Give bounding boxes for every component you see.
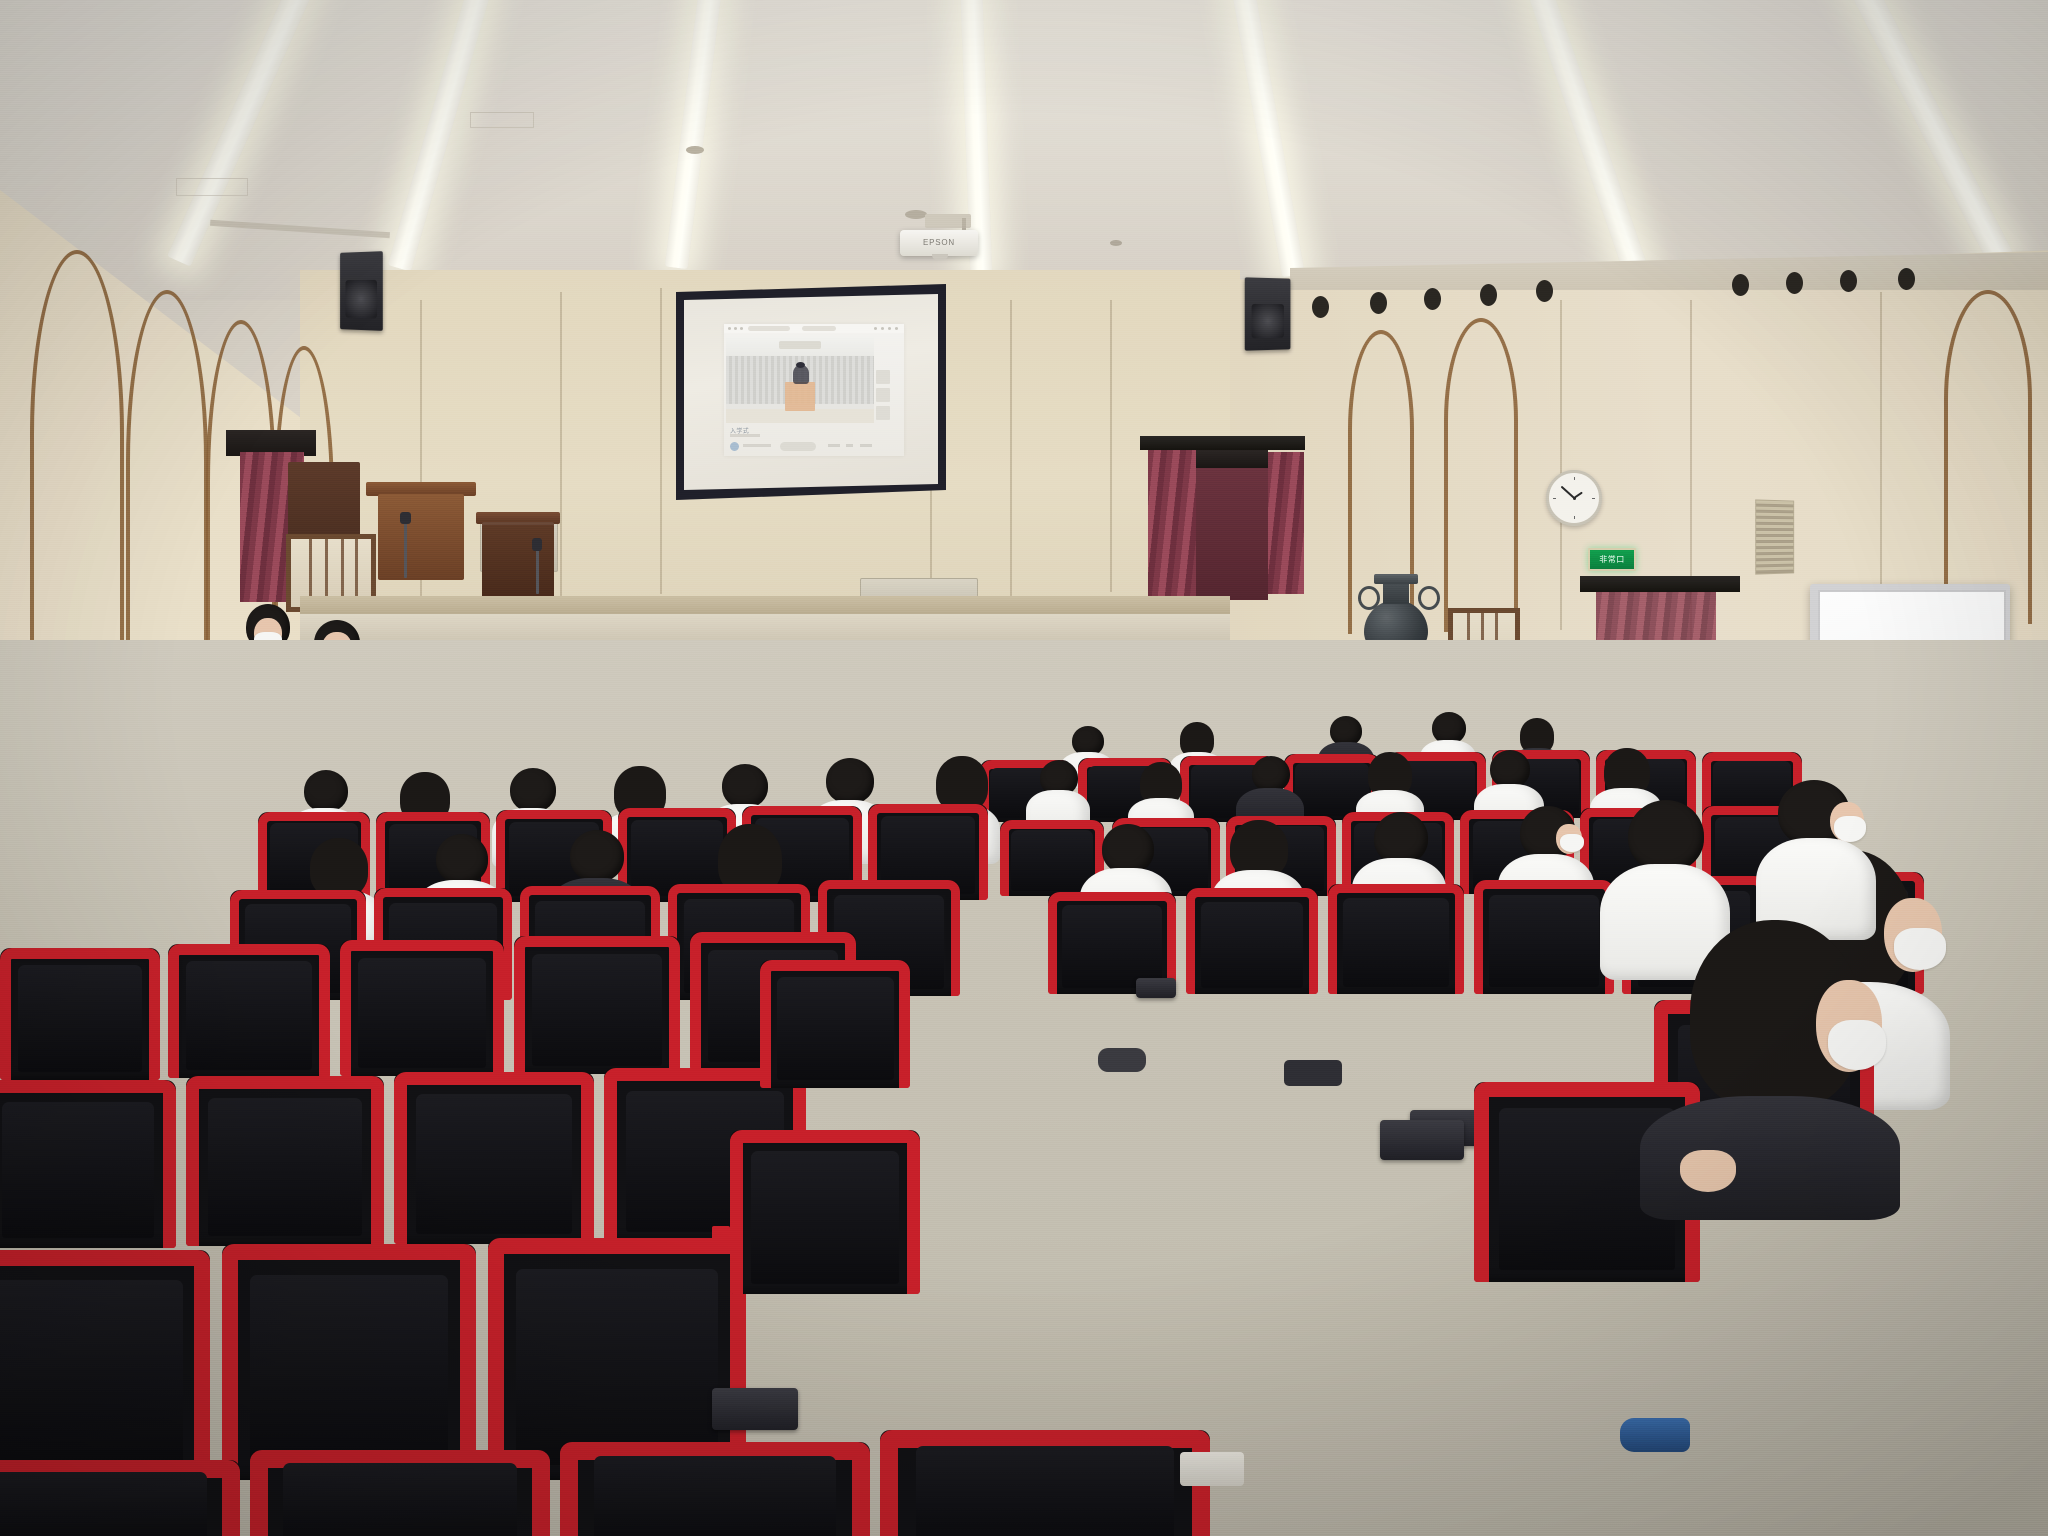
seat-empty[interactable]: [394, 1072, 594, 1244]
recessed-light-dot: [1536, 280, 1553, 302]
video-view-count: [730, 434, 760, 437]
smoke-detector-icon: [686, 146, 704, 154]
side-curtain-right-2: [1268, 452, 1304, 594]
emergency-exit-sign: 非常口: [1588, 548, 1636, 571]
seat-empty-foreground[interactable]: [250, 1450, 550, 1536]
video-sidebar-thumb: [876, 370, 890, 384]
video-podium: [785, 382, 815, 411]
seat[interactable]: [1186, 888, 1318, 994]
recessed-light-dot: [1786, 272, 1803, 294]
exit-sign-text: 非常口: [1599, 554, 1625, 565]
recessed-light-dot: [1370, 292, 1387, 314]
video-player[interactable]: [726, 337, 874, 423]
armrest: [1136, 978, 1176, 998]
seat-empty[interactable]: [760, 960, 910, 1088]
seat-empty[interactable]: [168, 944, 330, 1078]
ceiling-vent-icon-2: [176, 178, 248, 196]
armrest-foreground: [712, 1388, 798, 1430]
seat[interactable]: [1328, 884, 1464, 994]
recessed-light-dot: [1898, 268, 1915, 290]
recessed-light-dot: [1840, 270, 1857, 292]
projection-screen-surface: 入学式: [684, 294, 938, 490]
seat-empty-foreground[interactable]: [880, 1430, 1210, 1536]
lectern-body: [378, 494, 464, 580]
wall-arch-7: [1944, 290, 2032, 624]
like-button[interactable]: [828, 444, 840, 447]
armrest: [1380, 1120, 1464, 1160]
recessed-light-dot: [1424, 288, 1441, 310]
microphone-stand-2: [536, 548, 539, 594]
ceiling: [0, 0, 2048, 300]
wall-seam: [1010, 300, 1012, 596]
far-right-rail: [1580, 576, 1740, 592]
floor-object-bag: [1284, 1060, 1342, 1086]
sprinkler-head-icon: [1110, 240, 1122, 246]
wall-seam: [660, 288, 662, 594]
seat-empty[interactable]: [730, 1130, 920, 1294]
seat-empty[interactable]: [514, 936, 680, 1074]
floor-object-shoe: [1620, 1418, 1690, 1452]
channel-avatar[interactable]: [730, 442, 739, 451]
floor-object-remote[interactable]: [1180, 1452, 1244, 1486]
auditorium-photo: EPSON 非常口: [0, 0, 2048, 1536]
recessed-light-dot: [1732, 274, 1749, 296]
projector-brand-label: EPSON: [900, 238, 978, 247]
microphone-stand-1: [404, 520, 407, 578]
wall-seam: [560, 292, 562, 602]
wall-seam: [1560, 300, 1562, 630]
microphone-head-2: [532, 538, 542, 551]
seat-empty[interactable]: [0, 1250, 210, 1480]
door-header-rail: [1140, 436, 1305, 450]
ceiling-vent-icon: [470, 112, 534, 128]
vase-handle-right: [1418, 586, 1440, 610]
hand: [1680, 1150, 1736, 1192]
door-recess: [1196, 450, 1268, 468]
microphone-head-1: [400, 512, 411, 524]
vase-handle-left: [1358, 586, 1380, 610]
wall-speaker-right: [1245, 277, 1291, 350]
audience-person-foreground-near: [1640, 920, 1900, 1220]
wall-arch-6: [1444, 318, 1518, 632]
wall-vent-grille: [1755, 499, 1794, 574]
seat-empty-foreground[interactable]: [0, 1460, 240, 1536]
side-curtain-right: [1148, 450, 1196, 596]
video-sidebar-thumb: [876, 388, 890, 402]
seat-empty[interactable]: [0, 948, 160, 1080]
floor-object-shoe-2: [1098, 1048, 1146, 1072]
video-aircon-icon: [779, 341, 820, 349]
dislike-button[interactable]: [846, 444, 853, 447]
recessed-light-dot: [1480, 284, 1497, 306]
vase-neck: [1383, 582, 1409, 604]
wall-seam: [1880, 292, 1882, 632]
seat-empty[interactable]: [186, 1076, 384, 1246]
browser-title-chip: [802, 326, 836, 331]
wall-clock: [1546, 470, 1602, 526]
wall-seam: [1110, 300, 1112, 592]
projected-browser-window: 入学式: [724, 324, 904, 456]
wall-speaker-left: [340, 251, 383, 331]
video-sidebar-thumb: [876, 406, 890, 420]
video-speaker: [793, 365, 809, 384]
seat-empty[interactable]: [340, 940, 504, 1076]
channel-name: [743, 444, 771, 447]
ceiling-speaker-icon: [905, 210, 927, 219]
audience-person-masked-right: [1756, 780, 1876, 940]
seat-empty[interactable]: [222, 1244, 476, 1480]
vase-lip: [1374, 574, 1418, 584]
recessed-light-dot: [1312, 296, 1329, 318]
seat-empty-foreground[interactable]: [560, 1442, 870, 1536]
browser-address-bar[interactable]: [748, 326, 790, 331]
seat-empty[interactable]: [0, 1080, 176, 1248]
exit-door[interactable]: [1196, 450, 1268, 600]
subscribe-button[interactable]: [780, 442, 816, 451]
seat[interactable]: [1474, 880, 1614, 994]
podium: [482, 522, 554, 600]
share-button[interactable]: [860, 444, 872, 447]
projector-lens-icon: [932, 254, 948, 260]
